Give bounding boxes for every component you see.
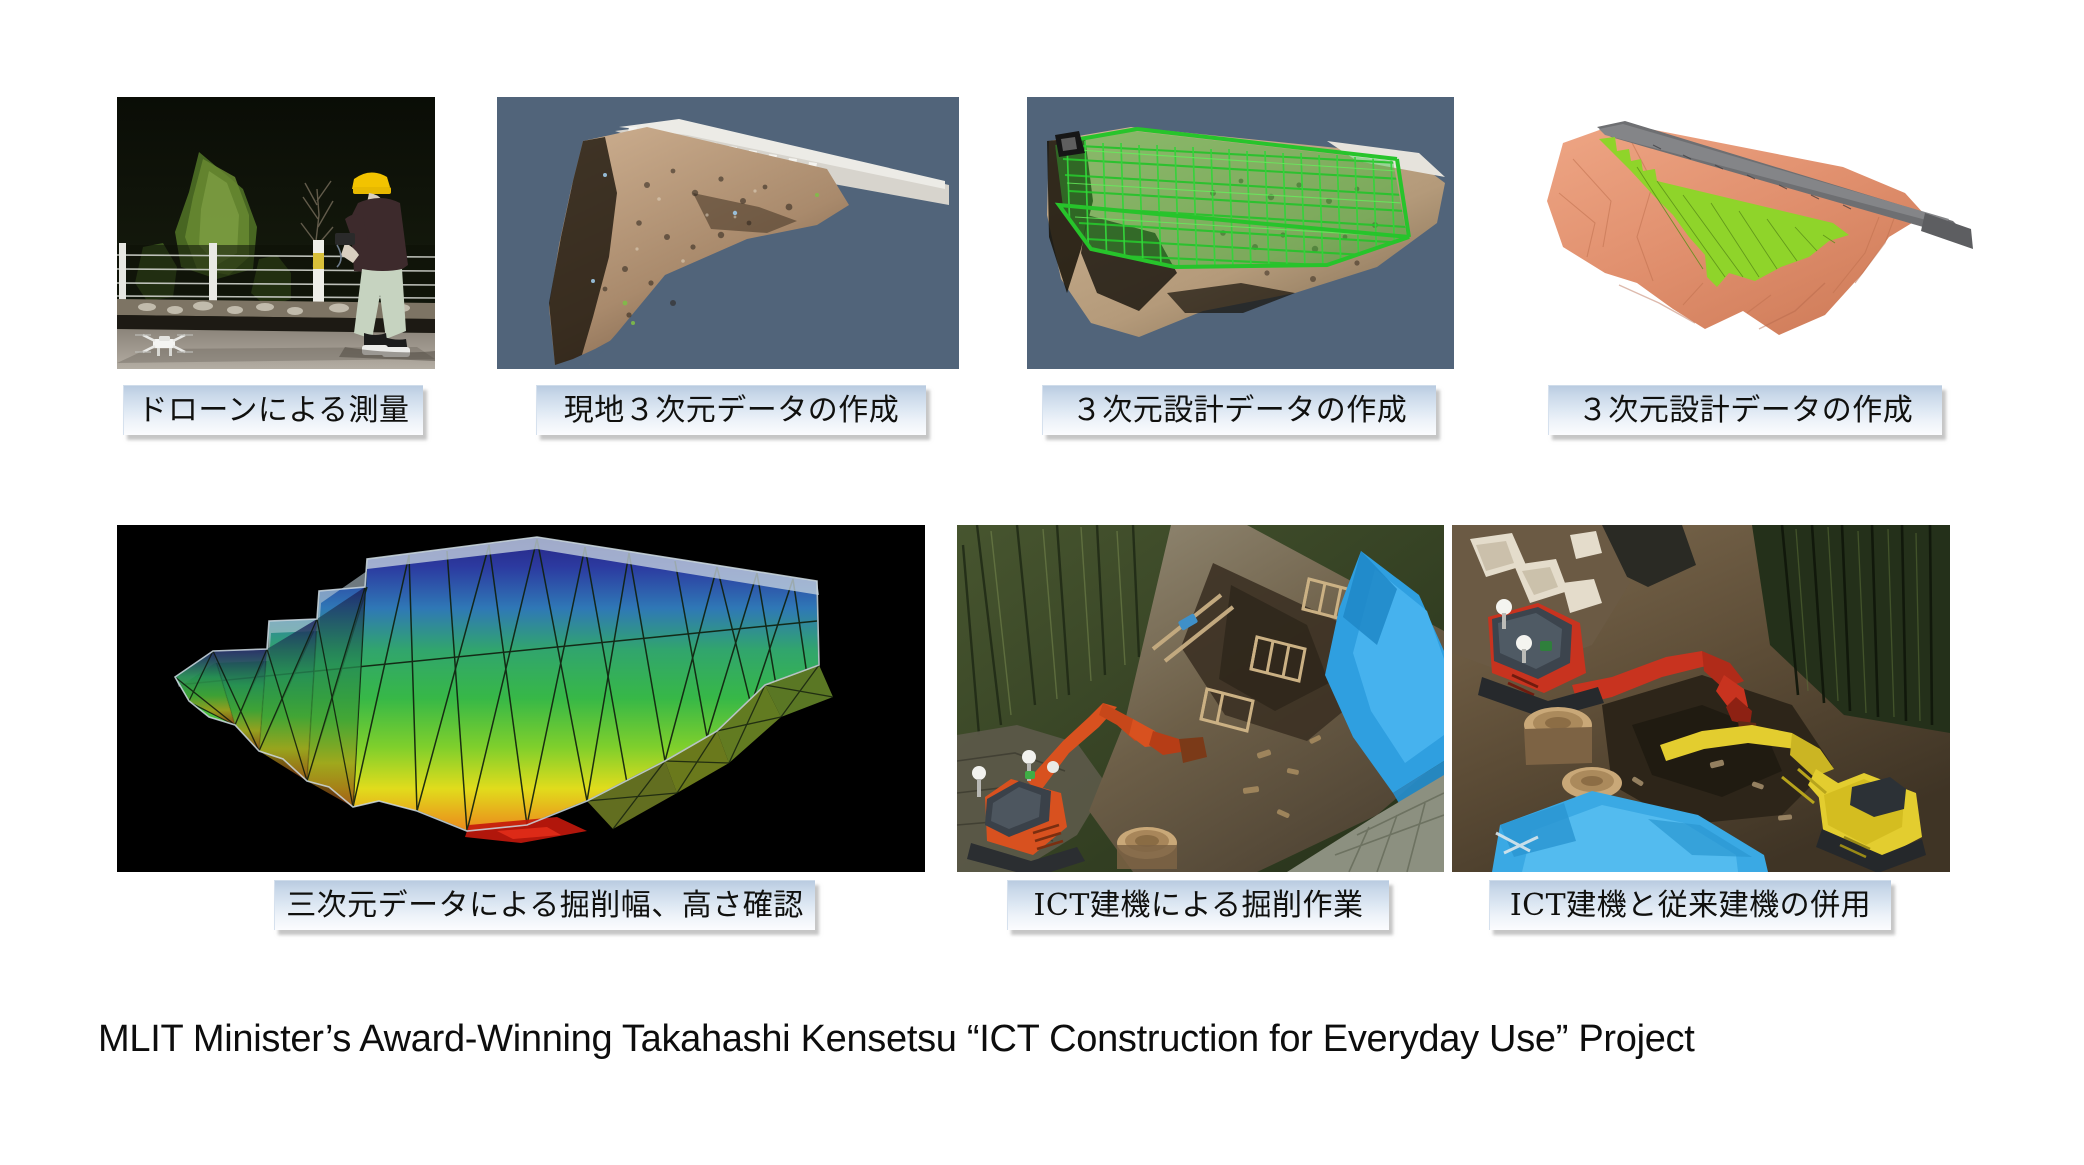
caption-text: ３次元設計データの作成 (1578, 396, 1914, 426)
caption-design-surface: ３次元設計データの作成 (1548, 385, 1942, 435)
design-mesh-overlay-model (1027, 97, 1454, 369)
site-point-cloud-model (497, 97, 959, 369)
dual-excavator-photo (1452, 525, 1950, 872)
project-title: MLIT Minister’s Award-Winning Takahashi … (98, 1018, 1898, 1061)
tin-elevation-model (117, 525, 925, 872)
caption-design-mesh: ３次元設計データの作成 (1042, 385, 1436, 435)
caption-site-point-cloud: 現地３次元データの作成 (536, 385, 926, 435)
caption-text: ３次元設計データの作成 (1072, 396, 1408, 426)
design-surface-model (1533, 97, 1973, 369)
drone-survey-photo (117, 97, 435, 369)
caption-text: ICT建機による掘削作業 (1034, 891, 1364, 921)
caption-text: ICT建機と従来建機の併用 (1510, 891, 1871, 921)
caption-drone-survey: ドローンによる測量 (123, 385, 423, 435)
caption-dual-excavator: ICT建機と従来建機の併用 (1489, 880, 1891, 930)
caption-tin-model: 三次元データによる掘削幅、高さ確認 (274, 880, 815, 930)
caption-ict-excavator: ICT建機による掘削作業 (1007, 880, 1389, 930)
slide-canvas: ドローンによる測量 現地３次元データの作成 ３次元設計データの作成 ３次元設計デ… (0, 0, 2084, 1165)
caption-text: 三次元データによる掘削幅、高さ確認 (286, 891, 804, 921)
ict-excavator-photo (957, 525, 1444, 872)
caption-text: ドローンによる測量 (137, 396, 409, 426)
caption-text: 現地３次元データの作成 (564, 396, 900, 426)
